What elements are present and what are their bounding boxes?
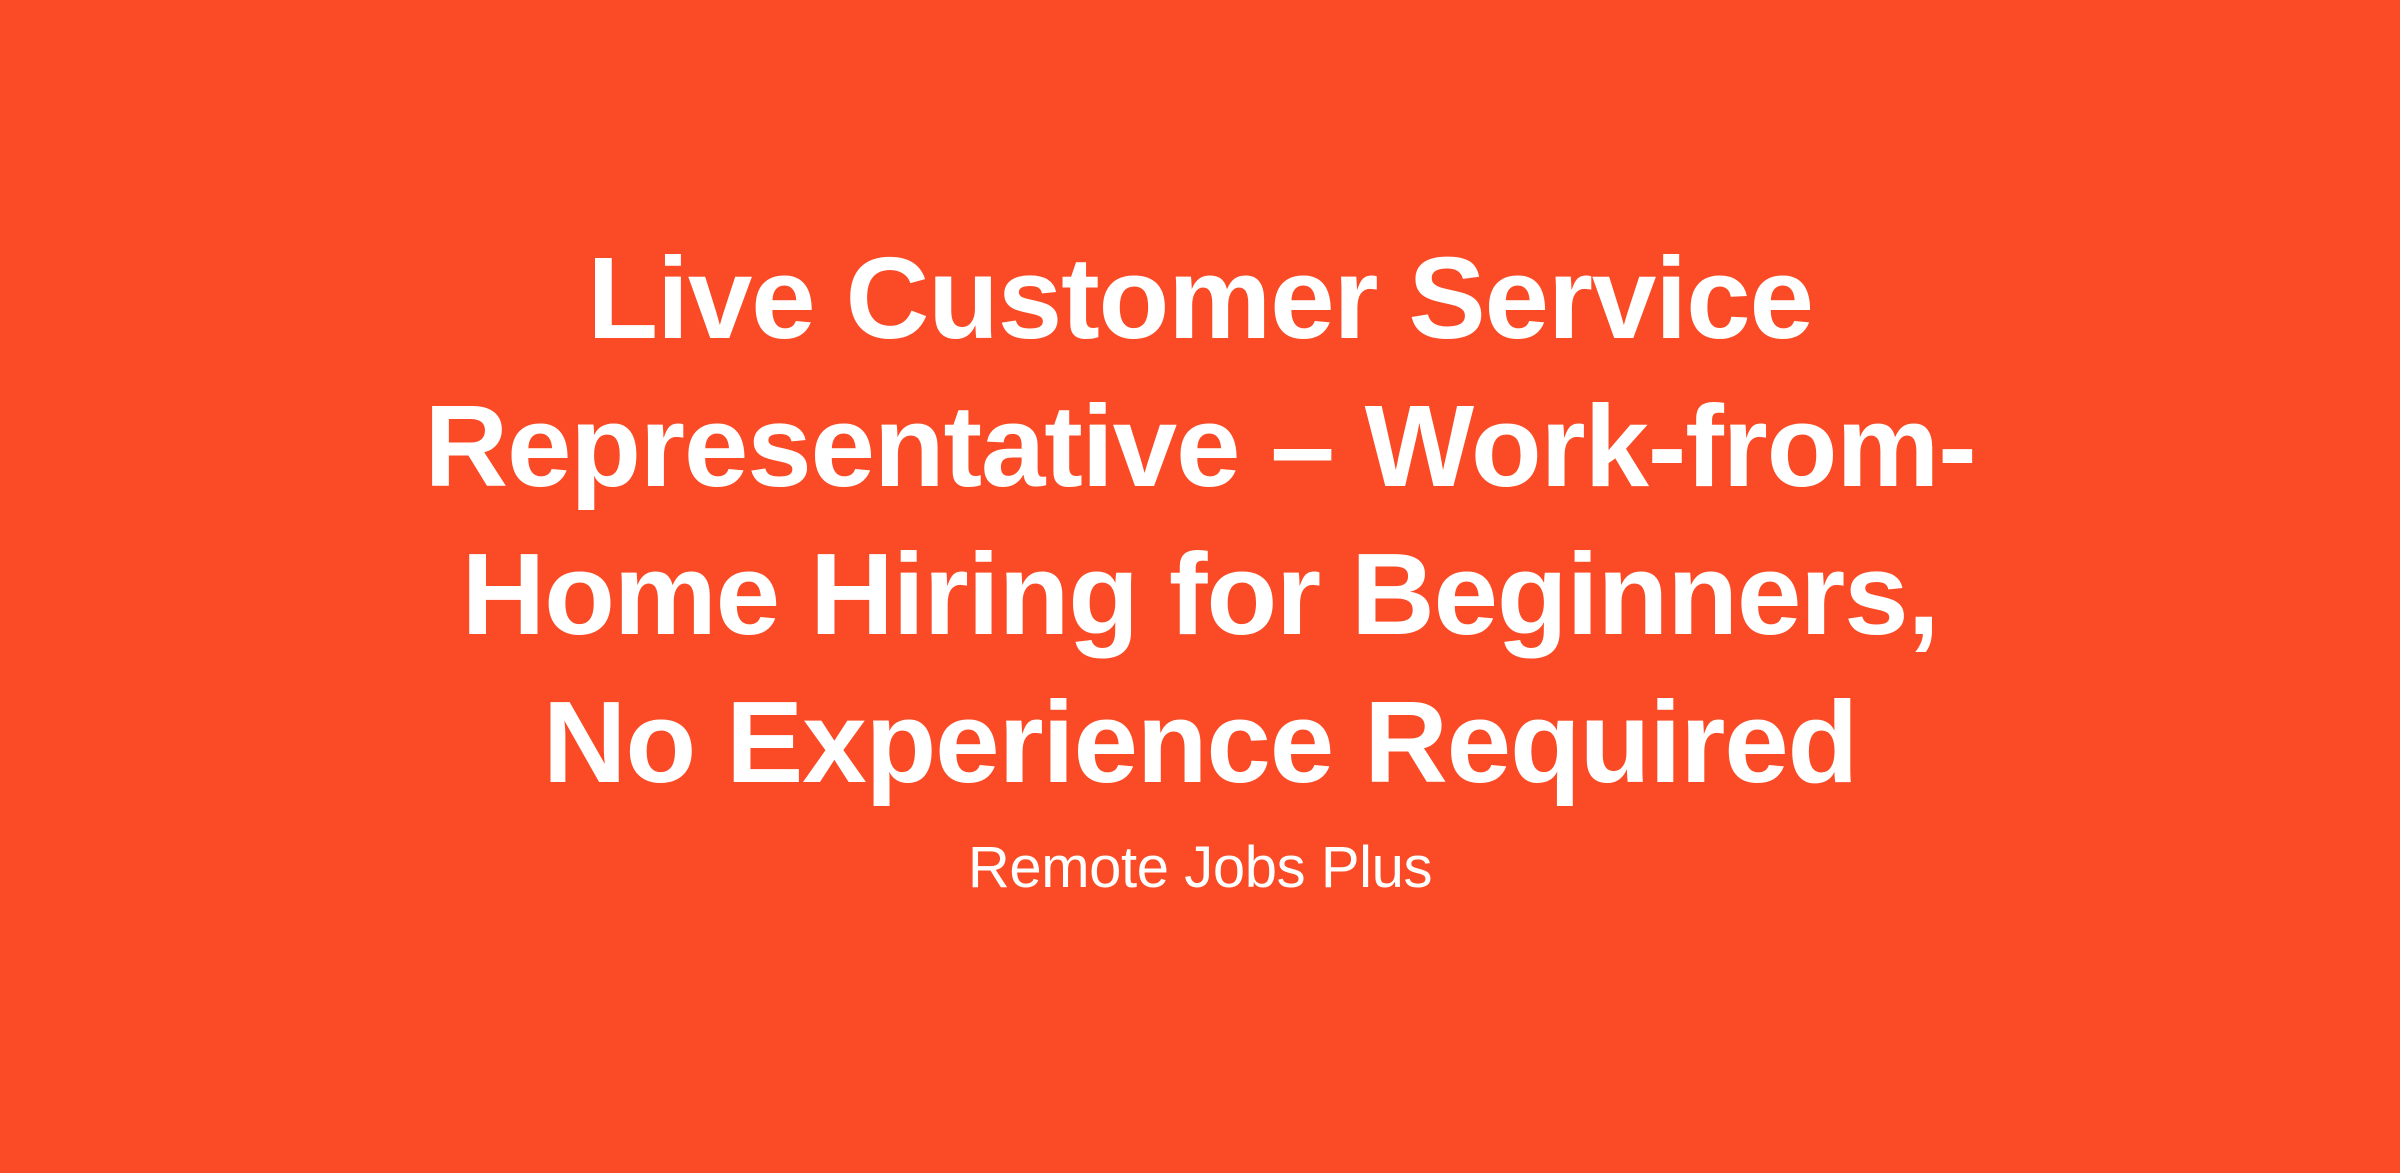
page-title: Live Customer Service Representative – W… xyxy=(370,224,2030,816)
site-name: Remote Jobs Plus xyxy=(968,816,1432,906)
share-card: Live Customer Service Representative – W… xyxy=(0,0,2400,1173)
card-content: Live Customer Service Representative – W… xyxy=(370,224,2030,906)
